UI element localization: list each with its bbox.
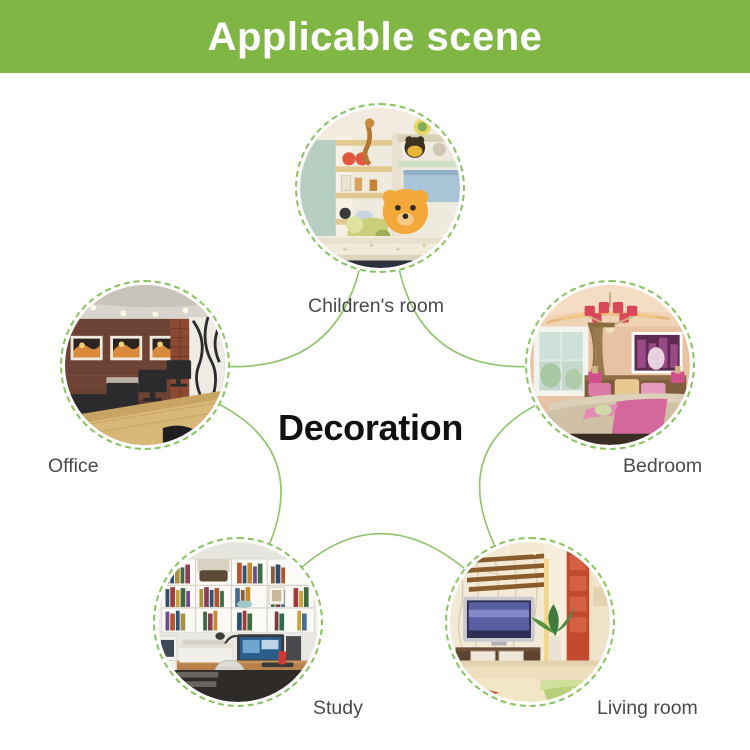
- node-living-room[interactable]: [445, 537, 615, 707]
- connector-arc: [480, 405, 536, 544]
- node-children-room[interactable]: [295, 103, 465, 273]
- photo-living-room: [450, 542, 610, 702]
- photo-children-room: [300, 108, 460, 268]
- connector-arc: [230, 270, 359, 366]
- label-study: Study: [313, 699, 363, 719]
- photo-office: [65, 285, 225, 445]
- node-bedroom[interactable]: [525, 280, 695, 450]
- node-study[interactable]: [153, 537, 323, 707]
- center-label: Decoration: [278, 410, 463, 446]
- connector-arc: [302, 534, 464, 569]
- label-bedroom: Bedroom: [623, 457, 702, 477]
- label-living-room: Living room: [597, 699, 698, 719]
- node-office[interactable]: [60, 280, 230, 450]
- label-children-room: Children's room: [308, 297, 444, 317]
- connector-arc: [399, 271, 525, 367]
- diagram-stage: Children's room Bedroom Living room Stud…: [0, 73, 750, 750]
- photo-study: [158, 542, 318, 702]
- page-title: Applicable scene: [208, 17, 543, 57]
- applicable-scene-infographic: Applicable scene: [0, 0, 750, 750]
- header-banner: Applicable scene: [0, 0, 750, 73]
- label-office: Office: [48, 457, 99, 477]
- photo-bedroom: [530, 285, 690, 445]
- connector-arc: [220, 405, 281, 543]
